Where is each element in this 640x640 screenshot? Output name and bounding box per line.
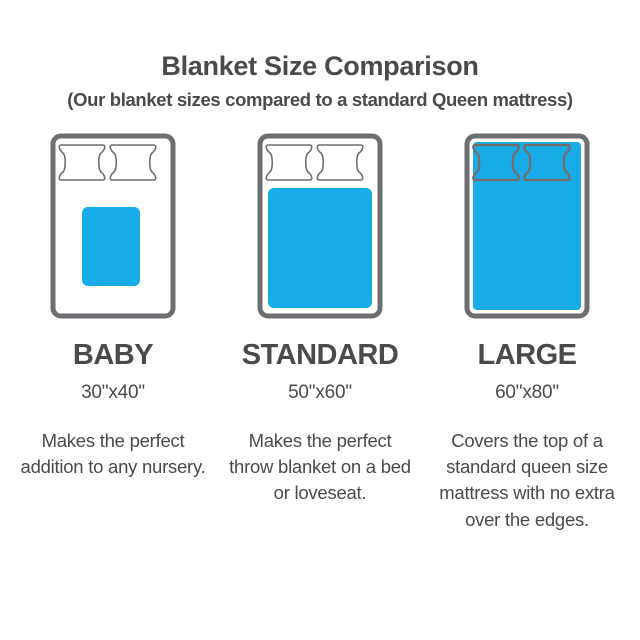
bed-diagram-baby	[50, 133, 176, 319]
size-dimensions-large: 60"x80"	[495, 383, 559, 402]
comparison-column-large: LARGE 60"x80" Covers the top of a standa…	[428, 133, 626, 533]
comparison-column-standard: STANDARD 50"x60" Makes the perfect throw…	[221, 133, 419, 533]
blanket-swatch-baby	[82, 207, 140, 286]
pillow-right-icon	[317, 145, 362, 180]
size-name-large: LARGE	[478, 341, 577, 370]
page-title: Blanket Size Comparison	[0, 52, 640, 82]
size-dimensions-baby: 30"x40"	[81, 383, 145, 402]
pillow-left-icon	[59, 145, 104, 180]
bed-diagram-large	[464, 133, 590, 319]
size-dimensions-standard: 50"x60"	[288, 383, 352, 402]
bed-diagram-standard	[257, 133, 383, 319]
size-description-standard: Makes the perfect throw blanket on a bed…	[225, 428, 415, 507]
size-description-large: Covers the top of a standard queen size …	[432, 428, 622, 533]
comparison-columns: BABY 30"x40" Makes the perfect addition …	[0, 133, 640, 533]
pillow-right-icon	[110, 145, 155, 180]
header: Blanket Size Comparison (Our blanket siz…	[0, 52, 640, 111]
size-description-baby: Makes the perfect addition to any nurser…	[18, 428, 208, 481]
size-name-standard: STANDARD	[242, 341, 399, 370]
blanket-size-comparison-infographic: Blanket Size Comparison (Our blanket siz…	[0, 0, 640, 640]
blanket-swatch-standard	[268, 188, 372, 308]
page-subtitle: (Our blanket sizes compared to a standar…	[0, 88, 640, 111]
pillow-left-icon	[266, 145, 311, 180]
size-name-baby: BABY	[73, 341, 153, 370]
comparison-column-baby: BABY 30"x40" Makes the perfect addition …	[14, 133, 212, 533]
